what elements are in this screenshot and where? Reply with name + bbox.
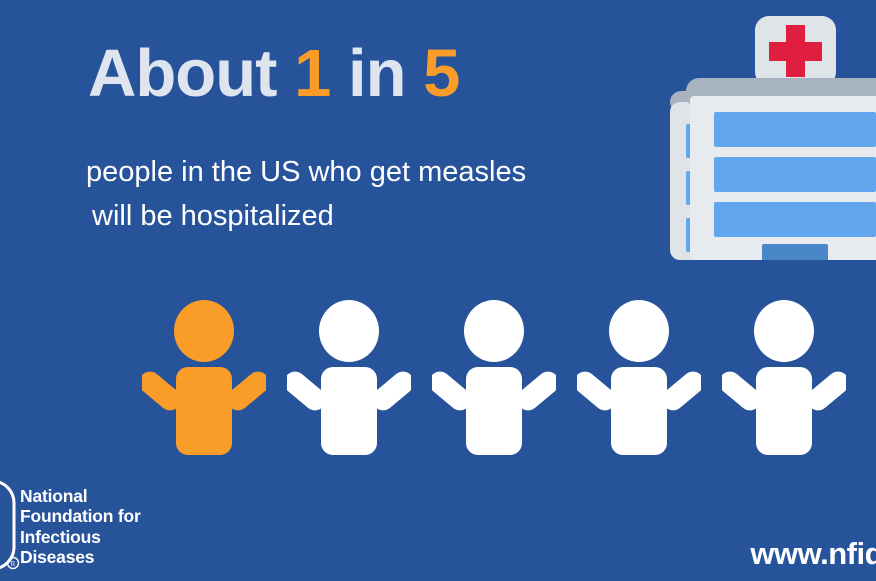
person-pictogram-1 (142, 300, 266, 460)
hospital-building-icon (666, 8, 876, 260)
person-pictogram-3 (432, 300, 556, 460)
person-head (319, 300, 379, 362)
cross-horizontal-bar (769, 42, 822, 61)
nfid-logo[interactable]: R National Foundation for Infectious Dis… (0, 477, 190, 581)
window-band (714, 112, 876, 147)
logo-outline (0, 481, 14, 569)
entrance-door (762, 244, 828, 260)
logo-line-3: Infectious (20, 527, 141, 547)
person-head (609, 300, 669, 362)
person-pictogram-4 (577, 300, 701, 460)
headline: About 1 in 5 (88, 40, 459, 107)
headline-text-about: About (88, 36, 294, 111)
person-torso (321, 367, 377, 455)
nfid-logo-mark: R (0, 479, 22, 577)
headline-number-one: 1 (294, 36, 330, 111)
person-torso (176, 367, 232, 455)
subtitle: people in the US who get measles will be… (86, 150, 526, 238)
person-torso (611, 367, 667, 455)
registered-mark-letter: R (11, 560, 16, 568)
subtitle-line-2: will be hospitalized (86, 194, 526, 238)
person-pictogram-2 (287, 300, 411, 460)
person-head (754, 300, 814, 362)
headline-number-five: 5 (423, 36, 459, 111)
logo-line-2: Foundation for (20, 506, 141, 526)
window-band (714, 157, 876, 192)
infographic-canvas: About 1 in 5 people in the US who get me… (0, 0, 876, 581)
person-pictogram-5 (722, 300, 846, 460)
people-pictogram-row (140, 300, 876, 460)
logo-line-1: National (20, 486, 141, 506)
logo-line-4: Diseases (20, 547, 141, 567)
nfid-logo-text: National Foundation for Infectious Disea… (20, 486, 141, 568)
person-head (174, 300, 234, 362)
person-torso (466, 367, 522, 455)
subtitle-line-1: people in the US who get measles (86, 150, 526, 194)
headline-text-in: in (330, 36, 423, 111)
person-head (464, 300, 524, 362)
window-band (714, 202, 876, 237)
person-torso (756, 367, 812, 455)
website-url[interactable]: www.nfid (750, 536, 876, 572)
